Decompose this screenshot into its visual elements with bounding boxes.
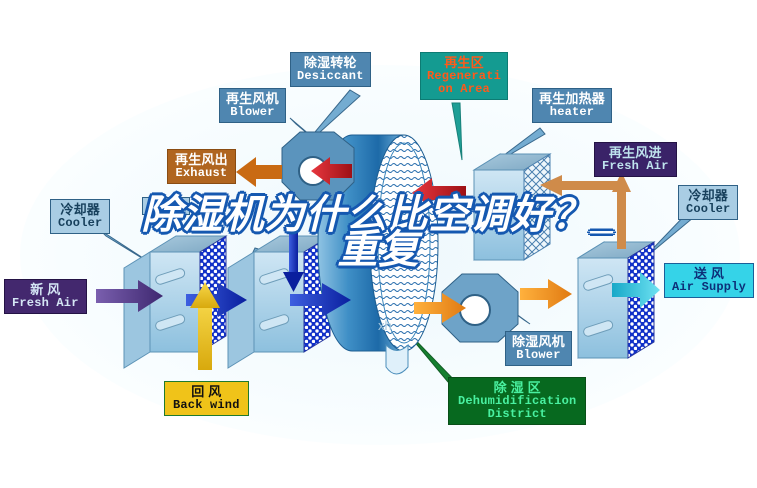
label-back-wind-en: Back wind xyxy=(173,399,240,412)
label-regen-blower-en: Blower xyxy=(226,106,279,119)
label-cooler-right: 冷却器 Cooler xyxy=(678,185,738,220)
label-cooler-left-en: Cooler xyxy=(58,217,102,230)
label-desiccant-wheel: 除湿转轮 Desiccant xyxy=(290,52,371,87)
label-regen-fresh-air-in-en: Fresh Air xyxy=(602,160,669,173)
regen-heater-unit xyxy=(466,154,550,260)
label-back-wind: 回 风 Back wind xyxy=(164,381,249,416)
label-dehum-blower-cn: 除湿风机 xyxy=(512,335,565,349)
label-regen-heater: 再生加热器 heater xyxy=(532,88,612,123)
label-desiccant-wheel-en: Desiccant xyxy=(297,70,364,83)
label-dehumidification-district: 除 湿 区 Dehumidification District xyxy=(448,377,586,425)
label-cooler-right-en: Cooler xyxy=(686,203,730,216)
label-regeneration-area: 再生区 Regenerati on Area xyxy=(420,52,508,100)
label-desiccant-wheel-cn: 除湿转轮 xyxy=(297,56,364,70)
label-cooler-left: 冷却器 Cooler xyxy=(50,199,110,234)
dehumidifier-schematic-diagram: xh xyxy=(0,0,757,488)
label-regeneration-area-en2: on Area xyxy=(427,83,501,96)
label-fresh-air-in-cn: 新 风 xyxy=(12,283,79,297)
label-regen-exhaust-cn: 再生风出 xyxy=(175,153,228,167)
label-dehum-blower: 除湿风机 Blower xyxy=(505,331,572,366)
label-regeneration-area-cn: 再生区 xyxy=(427,56,501,70)
label-regen-exhaust: 再生风出 Exhaust xyxy=(167,149,236,184)
label-cooler-left-cn: 冷却器 xyxy=(58,203,102,217)
label-air-supply-en: Air Supply xyxy=(672,281,746,294)
label-dehum-blower-en: Blower xyxy=(512,349,565,362)
label-regen-exhaust-en: Exhaust xyxy=(175,167,228,180)
label-regen-fresh-air-in-cn: 再生风进 xyxy=(602,146,669,160)
label-regen-heater-en: heater xyxy=(539,106,605,119)
label-regen-heater-cn: 再生加热器 xyxy=(539,92,605,106)
label-regen-fresh-air-in: 再生风进 Fresh Air xyxy=(594,142,677,177)
label-cooler-mid-cn: 冷却器 xyxy=(149,200,183,212)
label-air-supply-cn: 送 风 xyxy=(672,267,746,281)
label-cooler-right-cn: 冷却器 xyxy=(686,189,730,203)
label-dehum-district-en2: District xyxy=(458,408,576,421)
label-regen-blower: 再生风机 Blower xyxy=(219,88,286,123)
label-dehum-district-cn: 除 湿 区 xyxy=(458,381,576,395)
label-back-wind-cn: 回 风 xyxy=(173,385,240,399)
label-fresh-air-in: 新 风 Fresh Air xyxy=(4,279,87,314)
svg-text:xh: xh xyxy=(378,318,392,333)
label-air-supply: 送 风 Air Supply xyxy=(664,263,754,298)
label-regen-blower-cn: 再生风机 xyxy=(226,92,279,106)
diagram-graphics: xh xyxy=(0,0,757,488)
label-cooler-mid: 冷却器 xyxy=(142,197,190,215)
label-fresh-air-in-en: Fresh Air xyxy=(12,297,79,310)
